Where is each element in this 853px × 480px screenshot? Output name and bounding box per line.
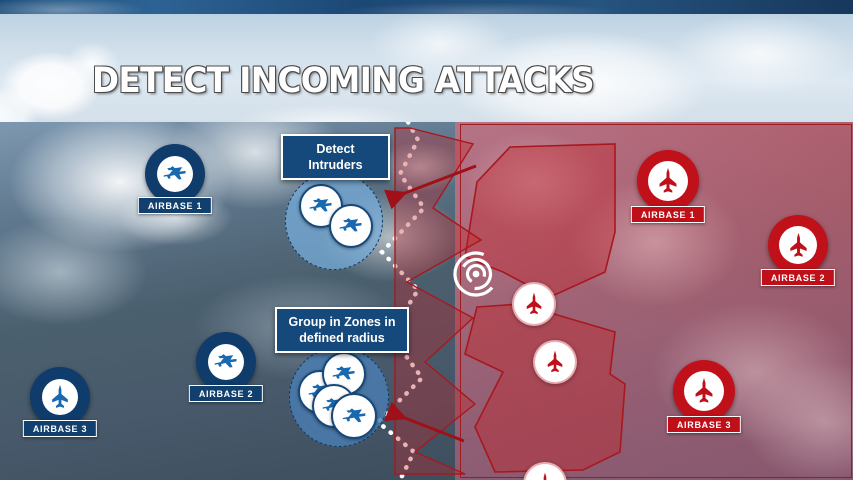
detected-jet-2[interactable] xyxy=(329,204,373,248)
threat-zone-south[interactable] xyxy=(465,304,625,472)
friendly-airbase-2[interactable]: AIRBASE 2 xyxy=(196,332,256,392)
fighter-jet-top-icon xyxy=(521,291,547,317)
radar-target-icon xyxy=(452,250,500,298)
hostile-jet-north-2[interactable] xyxy=(533,340,577,384)
slide-header: DETECT INCOMING ATTACKS xyxy=(0,14,853,122)
detect-intruders-callout[interactable]: Detect Intruders xyxy=(281,134,390,180)
airbase-marker-inner xyxy=(208,344,244,380)
friendly-airbase-3[interactable]: AIRBASE 3 xyxy=(30,367,90,427)
airbase-marker-ring xyxy=(30,367,90,427)
fighter-jet-side-icon xyxy=(339,401,370,432)
group-in-zones-callout[interactable]: Group in Zones in defined radius xyxy=(275,307,409,353)
top-sky-band xyxy=(0,0,853,14)
fighter-jet-side-icon xyxy=(336,211,366,241)
airbase-label: AIRBASE 2 xyxy=(189,385,263,402)
airbase-marker-inner xyxy=(42,379,78,415)
airbase-marker-ring xyxy=(145,144,205,204)
friendly-airbase-1[interactable]: AIRBASE 1 xyxy=(145,144,205,204)
slide-canvas: DETECT INCOMING ATTACKS xyxy=(0,0,853,480)
grouped-jet-4[interactable] xyxy=(331,393,377,439)
callout-line-2: Intruders xyxy=(292,157,379,173)
fighter-jet-top-icon xyxy=(542,349,568,375)
attack-arrow-north xyxy=(378,148,488,208)
hostile-jet-north-1[interactable] xyxy=(512,282,556,326)
callout-line-2: defined radius xyxy=(286,330,398,346)
fighter-jet-side-icon xyxy=(160,159,190,189)
callout-line-1: Detect xyxy=(292,141,379,157)
attack-arrow-south xyxy=(378,387,488,447)
map-stage: AIRBASE 1 AIRBASE 2 AIRBASE 3 xyxy=(0,122,853,480)
airbase-label: AIRBASE 3 xyxy=(23,420,97,437)
radar-target-north[interactable] xyxy=(452,250,500,298)
callout-line-1: Group in Zones in xyxy=(286,314,398,330)
page-title: DETECT INCOMING ATTACKS xyxy=(92,61,594,101)
fighter-jet-top-icon xyxy=(46,383,74,411)
airbase-marker-ring xyxy=(196,332,256,392)
fighter-jet-top-icon xyxy=(532,471,558,480)
fighter-jet-side-icon xyxy=(211,347,241,377)
airbase-label: AIRBASE 1 xyxy=(138,197,212,214)
airbase-marker-inner xyxy=(157,156,193,192)
